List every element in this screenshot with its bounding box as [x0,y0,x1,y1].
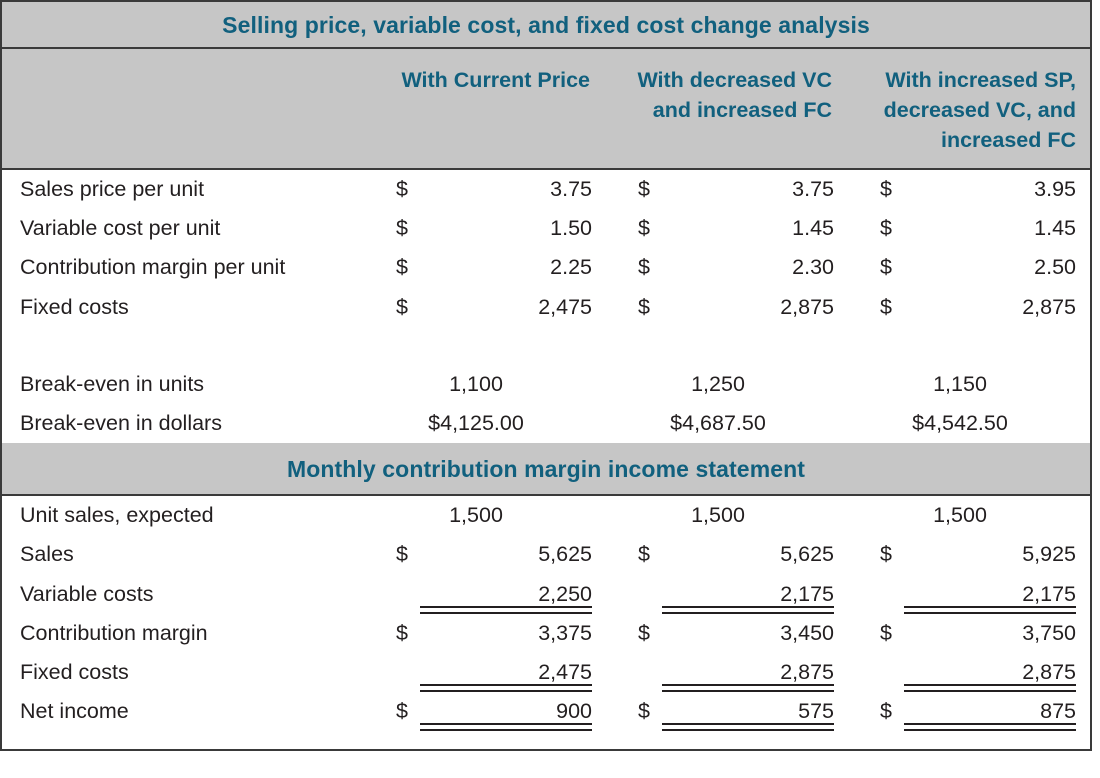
currency-symbol: $ [610,177,656,202]
currency-symbol: $ [852,177,898,202]
table-row: Sales$5,625$5,625$5,925 [2,535,1090,574]
cell-value: 1,500 [610,496,852,535]
table-row: Fixed costs$2,475$2,875$2,875 [2,288,1090,327]
table-row: Variable cost per unit$1.50$1.45$1.45 [2,209,1090,248]
table-cell: $2,475 [368,288,610,327]
cell-money: $2.50 [852,248,1094,287]
table-cell: 2,875 [610,653,852,692]
cell-value: 1,100 [368,365,610,404]
column-header-decreased-vc-increased-fc: With decreased VC and increased FC [610,49,852,168]
table-row: Sales price per unit$3.75$3.75$3.95 [2,170,1090,209]
income-section-title: Monthly contribution margin income state… [2,443,1090,496]
column-header-increased-sp-decreased-vc-increased-fc: With increased SP, decreased VC, and inc… [852,49,1094,168]
cell-money: $3.75 [368,170,610,209]
cell-money: $900 [368,692,610,731]
row-spacer [2,327,1090,365]
currency-symbol: $ [852,542,898,567]
cell-money: $3,750 [852,614,1094,653]
currency-symbol: $ [852,699,898,724]
cell-money: $1.50 [368,209,610,248]
cvp-analysis-table: Selling price, variable cost, and fixed … [0,0,1092,751]
currency-symbol [368,660,414,685]
cell-value: 2,250 [414,582,592,607]
currency-symbol: $ [852,255,898,280]
currency-symbol: $ [852,216,898,241]
table-cell: 2,875 [852,653,1094,692]
cell-money: $3.75 [610,170,852,209]
table-bottom-padding [2,731,1090,749]
table-row: Net income$900$575$875 [2,692,1090,731]
currency-symbol: $ [368,216,414,241]
table-cell: $2,875 [610,288,852,327]
cell-money: $1.45 [852,209,1094,248]
currency-symbol: $ [610,621,656,646]
table-row: Unit sales, expected1,5001,5001,500 [2,496,1090,535]
cell-value: 3,375 [414,621,592,646]
cell-value: 1,500 [852,496,1094,535]
currency-symbol: $ [610,216,656,241]
table-cell: $3.75 [368,170,610,209]
table-cell: $4,542.50 [852,404,1094,443]
cell-value: 2,475 [414,660,592,685]
cell-value: 575 [656,699,834,724]
table-cell: $1.50 [368,209,610,248]
cell-value: $4,687.50 [610,404,852,443]
cell-money: 2,875 [852,653,1094,692]
cell-value: 2.50 [898,255,1076,280]
table-cell: $4,125.00 [368,404,610,443]
cell-value: 1,150 [852,365,1094,404]
cell-money: 2,875 [610,653,852,692]
cell-value: 2,175 [656,582,834,607]
row-label: Sales [2,542,368,567]
cell-value: 3.75 [656,177,834,202]
column-header-row: With Current Price With decreased VC and… [2,49,1090,170]
currency-symbol: $ [610,295,656,320]
cell-value: 2,175 [898,582,1076,607]
cell-money: 2,250 [368,575,610,614]
table-cell: $575 [610,692,852,731]
table-cell: $3.95 [852,170,1094,209]
currency-symbol: $ [368,255,414,280]
table-row: Contribution margin per unit$2.25$2.30$2… [2,248,1090,287]
cell-money: $3.95 [852,170,1094,209]
table-cell: $2,875 [852,288,1094,327]
income-statement-rows: Unit sales, expected1,5001,5001,500Sales… [2,496,1090,731]
currency-symbol: $ [368,699,414,724]
cell-value: 2,875 [898,295,1076,320]
cell-money: $575 [610,692,852,731]
table-cell: $3.75 [610,170,852,209]
row-label: Break-even in units [2,372,368,397]
cell-value: 1,250 [610,365,852,404]
cell-value: 875 [898,699,1076,724]
cell-value: 2.30 [656,255,834,280]
row-label: Net income [2,699,368,724]
table-row: Break-even in dollars$4,125.00$4,687.50$… [2,404,1090,443]
cell-value: 1.50 [414,216,592,241]
cell-money: $2,875 [852,288,1094,327]
table-cell: $1.45 [610,209,852,248]
table-cell: $900 [368,692,610,731]
table-cell: $3,750 [852,614,1094,653]
table-cell: $5,625 [610,535,852,574]
cell-money: $875 [852,692,1094,731]
cell-money: 2,175 [610,575,852,614]
currency-symbol [852,582,898,607]
table-cell: 1,500 [368,496,610,535]
table-cell: 2,475 [368,653,610,692]
cell-value: 1.45 [656,216,834,241]
currency-symbol: $ [368,295,414,320]
table-row: Variable costs2,2502,1752,175 [2,575,1090,614]
row-label: Variable cost per unit [2,216,368,241]
table-cell: 1,500 [852,496,1094,535]
cell-money: $2,475 [368,288,610,327]
currency-symbol [368,582,414,607]
table-cell: 2,175 [610,575,852,614]
cell-value: 2,875 [656,295,834,320]
cell-money: $2.25 [368,248,610,287]
column-header-label-spacer [2,49,368,168]
cell-money: $5,925 [852,535,1094,574]
cell-value: 5,625 [656,542,834,567]
cell-money: 2,475 [368,653,610,692]
cell-value: $4,125.00 [368,404,610,443]
currency-symbol [610,660,656,685]
cell-money: $5,625 [610,535,852,574]
cell-value: 2,875 [898,660,1076,685]
table-cell: $1.45 [852,209,1094,248]
cell-value: 3.75 [414,177,592,202]
currency-symbol: $ [852,621,898,646]
currency-symbol [610,582,656,607]
table-cell: $2.50 [852,248,1094,287]
currency-symbol: $ [368,177,414,202]
table-cell: 2,250 [368,575,610,614]
cell-money: $1.45 [610,209,852,248]
column-header-current-price: With Current Price [368,49,610,168]
table-cell: 1,250 [610,365,852,404]
cell-value: 5,625 [414,542,592,567]
cell-money: $3,375 [368,614,610,653]
row-label: Contribution margin per unit [2,255,368,280]
table-cell: $2.30 [610,248,852,287]
row-label: Fixed costs [2,660,368,685]
row-label: Fixed costs [2,295,368,320]
row-label: Sales price per unit [2,177,368,202]
row-label: Break-even in dollars [2,411,368,436]
table-cell: $3,375 [368,614,610,653]
currency-symbol [852,660,898,685]
currency-symbol: $ [610,255,656,280]
currency-symbol: $ [610,542,656,567]
table-row: Fixed costs2,4752,8752,875 [2,653,1090,692]
table-cell: 1,500 [610,496,852,535]
table-cell: $5,925 [852,535,1094,574]
cell-value: 3,750 [898,621,1076,646]
cell-value: 1.45 [898,216,1076,241]
analysis-rows: Sales price per unit$3.75$3.75$3.95Varia… [2,170,1090,443]
cell-value: $4,542.50 [852,404,1094,443]
cell-money: $5,625 [368,535,610,574]
currency-symbol: $ [368,621,414,646]
cell-value: 3.95 [898,177,1076,202]
row-label: Contribution margin [2,621,368,646]
row-label: Unit sales, expected [2,503,368,528]
cell-value: 3,450 [656,621,834,646]
cell-value: 5,925 [898,542,1076,567]
table-cell: $3,450 [610,614,852,653]
cell-value: 2,875 [656,660,834,685]
table-cell: $4,687.50 [610,404,852,443]
cell-money: $2,875 [610,288,852,327]
cell-value: 2,475 [414,295,592,320]
table-cell: 1,100 [368,365,610,404]
table-cell: 2,175 [852,575,1094,614]
table-cell: $2.25 [368,248,610,287]
cell-money: 2,175 [852,575,1094,614]
currency-symbol: $ [368,542,414,567]
table-cell: $5,625 [368,535,610,574]
table-cell: $875 [852,692,1094,731]
table-cell: 1,150 [852,365,1094,404]
analysis-section-title: Selling price, variable cost, and fixed … [2,2,1090,49]
cell-money: $3,450 [610,614,852,653]
cell-money: $2.30 [610,248,852,287]
cell-value: 1,500 [368,496,610,535]
table-row: Break-even in units1,1001,2501,150 [2,365,1090,404]
cell-value: 2.25 [414,255,592,280]
currency-symbol: $ [610,699,656,724]
row-label: Variable costs [2,582,368,607]
cell-value: 900 [414,699,592,724]
table-row: Contribution margin$3,375$3,450$3,750 [2,614,1090,653]
currency-symbol: $ [852,295,898,320]
